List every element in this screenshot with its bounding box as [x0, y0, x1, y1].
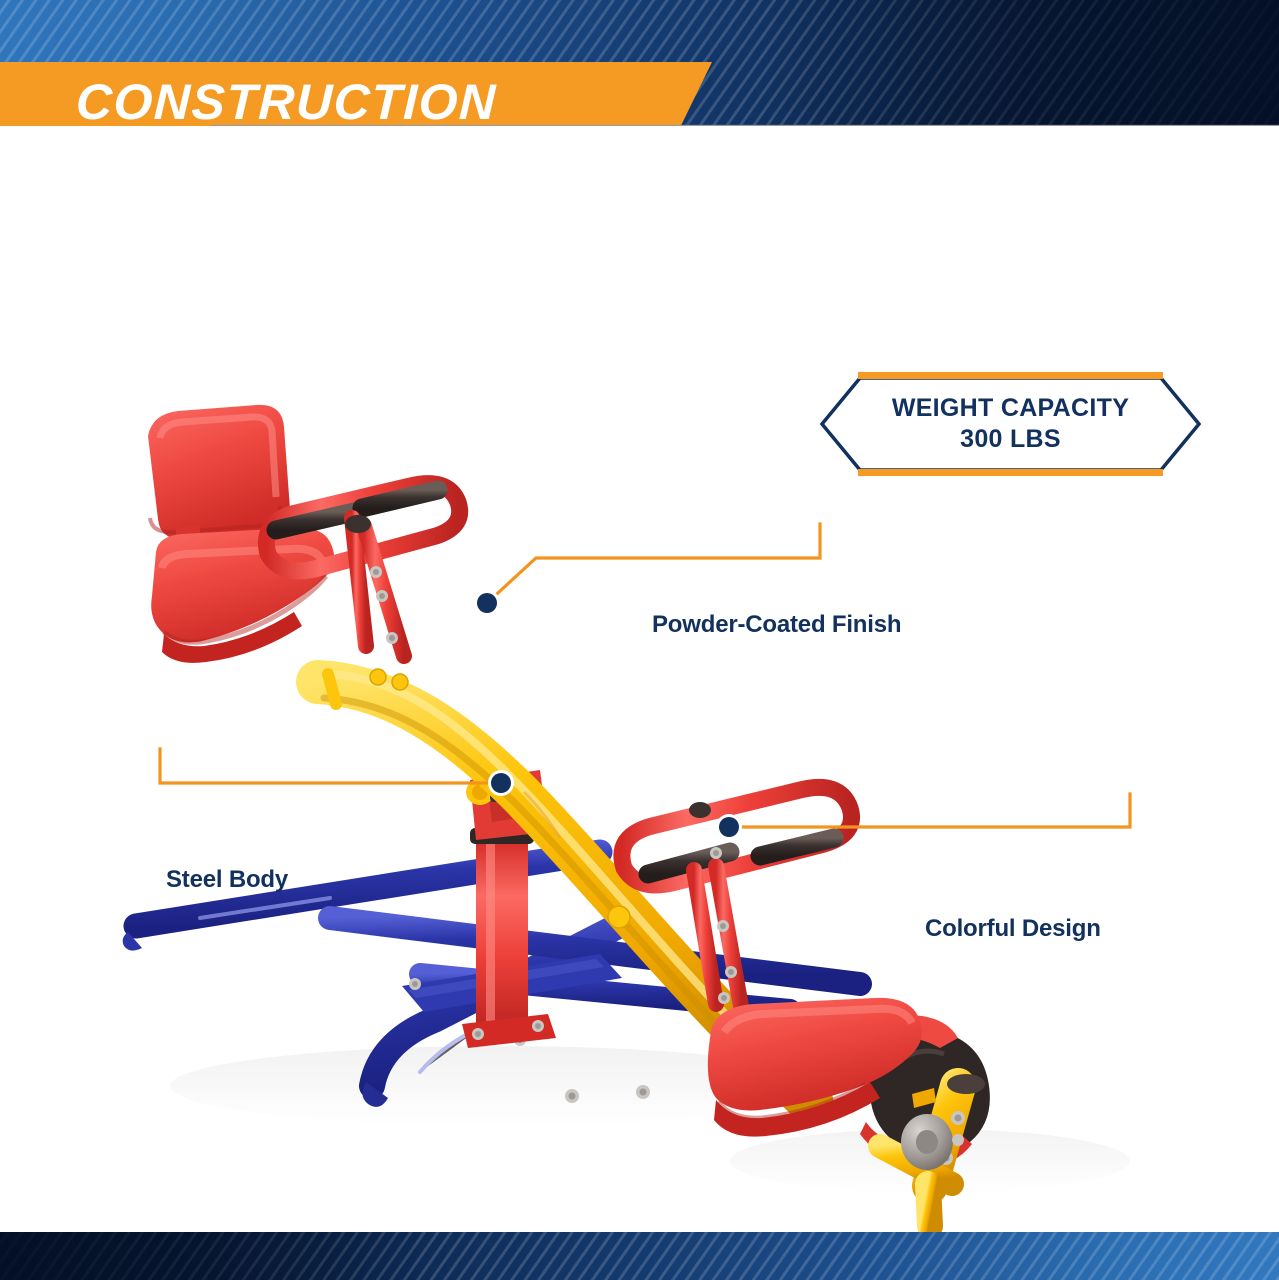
- left-seat-assembly: [148, 405, 460, 704]
- callout-label-steel-body: Steel Body: [166, 866, 288, 894]
- black-foam-grip-right-b: [760, 838, 834, 856]
- red-padded-seat-left: [151, 528, 334, 643]
- weight-capacity-badge: WEIGHT CAPACITY 300 LBS: [818, 372, 1203, 476]
- callout-label-powder-coated: Powder-Coated Finish: [652, 611, 901, 639]
- footer-stripe-fade: [0, 1232, 1279, 1280]
- callout-label-colorful-design: Colorful Design: [925, 915, 1101, 943]
- footer-banner: [0, 1232, 1279, 1280]
- main-content: WEIGHT CAPACITY 300 LBS: [0, 126, 1279, 1232]
- badge-line-1: WEIGHT CAPACITY: [892, 393, 1129, 424]
- badge-line-2: 300 LBS: [960, 424, 1061, 455]
- infographic-page: CONSTRUCTION: [0, 0, 1279, 1280]
- product-image: [0, 126, 1279, 1232]
